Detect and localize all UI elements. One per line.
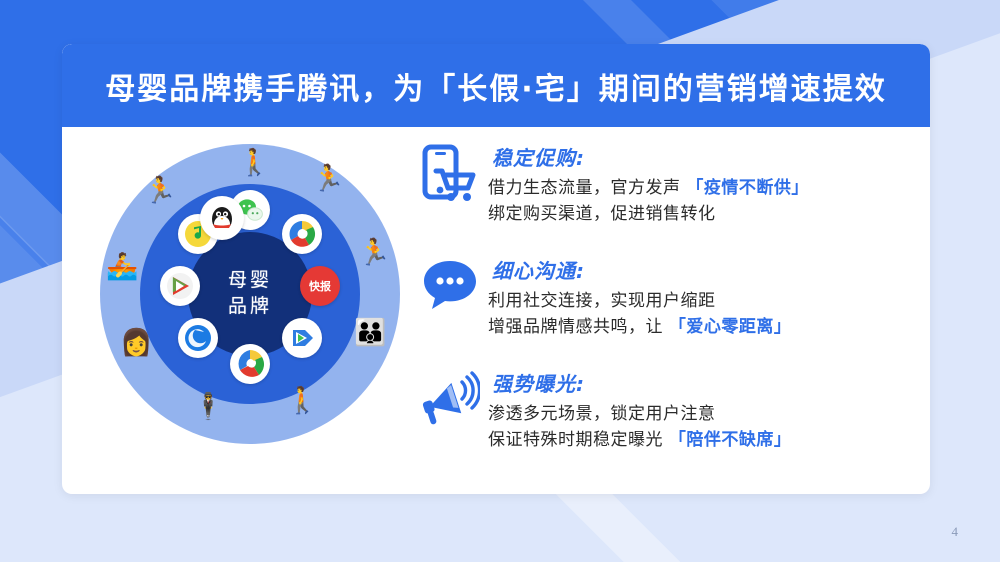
- line-part: 借力生态流量，官方发声: [488, 178, 686, 198]
- section-line: 增强品牌情感共鸣，让 「爱心零距离」: [488, 315, 912, 341]
- section-body: 细心沟通: 利用社交连接，实现用户缩距 增强品牌情感共鸣，让 「爱心零距离」: [488, 253, 912, 340]
- line-part: 绑定购买渠道，促进销售转化: [488, 204, 716, 224]
- section-line: 利用社交连接，实现用户缩距: [488, 289, 912, 315]
- megaphone-icon: [412, 366, 488, 426]
- app-icon-qq-browser[interactable]: [178, 318, 218, 358]
- section-heading: 强势曝光:: [488, 368, 589, 398]
- title-bar: 母婴品牌携手腾讯，为「长假·宅」期间的营销增速提效: [62, 44, 930, 127]
- message-sections: 稳定促购: 借力生态流量，官方发声 「疫情不断供」 绑定购买渠道，促进销售转化: [412, 140, 912, 479]
- phone-cart-icon: [412, 140, 488, 206]
- section-line: 绑定购买渠道，促进销售转化: [488, 202, 912, 228]
- tencent-weibo-glyph: [287, 219, 317, 249]
- kuaibao-glyph: 快报: [309, 278, 331, 294]
- line-part: 增强品牌情感共鸣，让: [488, 317, 669, 337]
- qq-browser-glyph: [183, 323, 213, 353]
- line-part-highlight: 「陪伴不缺席」: [669, 430, 792, 450]
- section-stable-purchase: 稳定促购: 借力生态流量，官方发声 「疫情不断供」 绑定购买渠道，促进销售转化: [412, 140, 912, 227]
- app-icon-tencent-video[interactable]: [282, 318, 322, 358]
- speech-bubble-icon: [412, 253, 488, 313]
- app-icon-tencent-app-store[interactable]: [160, 266, 200, 306]
- section-line: 借力生态流量，官方发声 「疫情不断供」: [488, 176, 912, 202]
- line-part: 利用社交连接，实现用户缩距: [488, 291, 716, 311]
- tencent-news-glyph: [235, 349, 265, 379]
- section-line: 保证特殊时期稳定曝光 「陪伴不缺席」: [488, 428, 912, 454]
- slide-canvas: 母婴品牌携手腾讯，为「长假·宅」期间的营销增速提效 母婴 品牌 🚶 🏃 🏃 👪 …: [0, 0, 1000, 562]
- section-strong-exposure: 强势曝光: 渗透多元场景，锁定用户注意 保证特殊时期稳定曝光 「陪伴不缺席」: [412, 366, 912, 453]
- person-sitting-icon: 🚣: [106, 254, 138, 280]
- app-icon-tencent-news[interactable]: [230, 344, 270, 384]
- section-heading: 细心沟通:: [488, 255, 589, 285]
- app-store-glyph: [165, 271, 195, 301]
- person-walking-icon: 🚶: [238, 150, 270, 176]
- person-standing-icon: 🕴: [192, 394, 224, 420]
- line-part: 保证特殊时期稳定曝光: [488, 430, 669, 450]
- tencent-video-glyph: [287, 323, 317, 353]
- app-icon-qq[interactable]: [200, 196, 244, 240]
- content-card: 母婴品牌携手腾讯，为「长假·宅」期间的营销增速提效 母婴 品牌 🚶 🏃 🏃 👪 …: [62, 44, 930, 494]
- center-label-line-2: 品牌: [228, 294, 272, 320]
- section-line: 渗透多元场景，锁定用户注意: [488, 402, 912, 428]
- qq-penguin-glyph: [206, 202, 238, 234]
- app-icon-tencent-kuaibao[interactable]: 快报: [300, 266, 340, 306]
- line-part-highlight: 「爱心零距离」: [669, 317, 792, 337]
- center-label-line-1: 母婴: [228, 268, 272, 294]
- person-family-icon: 👪: [354, 320, 386, 346]
- person-standing-icon: 🏃: [312, 166, 344, 192]
- person-running-icon: 🏃: [144, 178, 176, 204]
- section-body: 强势曝光: 渗透多元场景，锁定用户注意 保证特殊时期稳定曝光 「陪伴不缺席」: [488, 366, 912, 453]
- app-icon-tencent-weibo[interactable]: [282, 214, 322, 254]
- section-heading: 稳定促购:: [488, 142, 589, 172]
- line-part: 渗透多元场景，锁定用户注意: [488, 404, 716, 424]
- page-title: 母婴品牌携手腾讯，为「长假·宅」期间的营销增速提效: [105, 64, 886, 108]
- ecosystem-diagram: 母婴 品牌 🚶 🏃 🏃 👪 🚶 🕴 👩 🚣 🏃: [100, 144, 400, 444]
- person-woman-icon: 👩: [120, 330, 152, 356]
- section-careful-communication: 细心沟通: 利用社交连接，实现用户缩距 增强品牌情感共鸣，让 「爱心零距离」: [412, 253, 912, 340]
- line-part-highlight: 「疫情不断供」: [686, 178, 809, 198]
- page-number: 4: [952, 524, 959, 540]
- person-running-icon: 🏃: [358, 240, 390, 266]
- section-body: 稳定促购: 借力生态流量，官方发声 「疫情不断供」 绑定购买渠道，促进销售转化: [488, 140, 912, 227]
- person-walking-icon: 🚶: [286, 388, 318, 414]
